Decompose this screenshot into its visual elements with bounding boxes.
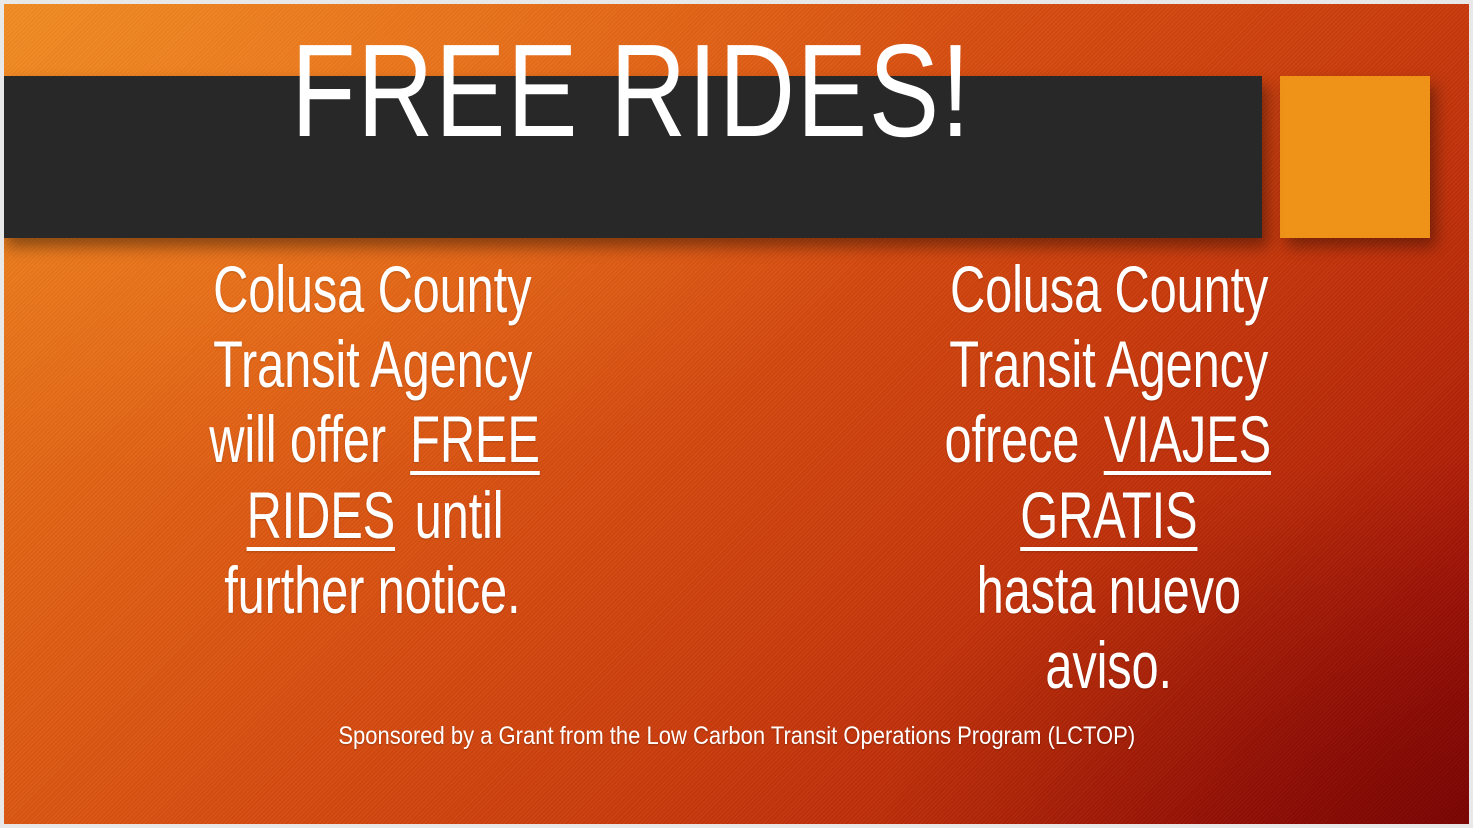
en-line-4-suffix: until	[414, 478, 503, 553]
es-line-2: Transit Agency	[949, 327, 1268, 402]
column-spanish: Colusa CountyTransit Agencyofrece VIAJES…	[741, 252, 1473, 672]
en-emphasis-free: FREE	[410, 402, 540, 477]
orange-accent-block	[1280, 76, 1430, 238]
es-line-4-suffix: hasta nuevo	[977, 553, 1241, 628]
sponsor-footer: Sponsored by a Grant from the Low Carbon…	[4, 722, 1469, 751]
en-line-1: Colusa County	[213, 252, 531, 327]
es-emphasis-viajes: VIAJES	[1103, 402, 1270, 477]
body-columns: Colusa CountyTransit Agencywill offer FR…	[4, 252, 1473, 672]
announcement-text-english: Colusa CountyTransit Agencywill offer FR…	[157, 252, 588, 628]
es-line-1: Colusa County	[950, 252, 1268, 327]
announcement-spanish-inner: Colusa CountyTransit Agencyofrece VIAJES…	[868, 252, 1350, 703]
title-band: FREE RIDES!	[0, 76, 1262, 238]
en-line-2: Transit Agency	[213, 327, 532, 402]
en-emphasis-rides: RIDES	[246, 478, 394, 553]
announcement-english-inner: Colusa CountyTransit Agencywill offer FR…	[187, 252, 558, 628]
es-line-3-prefix: ofrece	[944, 402, 1079, 477]
en-line-5: further notice.	[224, 553, 520, 628]
page-title-text: FREE RIDES!	[291, 25, 972, 157]
es-emphasis-gratis: GRATIS	[1020, 478, 1197, 553]
column-english: Colusa CountyTransit Agencywill offer FR…	[4, 252, 741, 672]
es-line-5: aviso.	[1045, 628, 1172, 703]
slide-canvas: FREE RIDES! Colusa CountyTransit Agencyw…	[0, 0, 1473, 828]
announcement-text-spanish: Colusa CountyTransit Agencyofrece VIAJES…	[829, 252, 1389, 703]
en-line-3-prefix: will offer	[209, 402, 386, 477]
page-title: FREE RIDES!	[0, 91, 1262, 223]
sponsor-footer-text: Sponsored by a Grant from the Low Carbon…	[338, 722, 1135, 751]
